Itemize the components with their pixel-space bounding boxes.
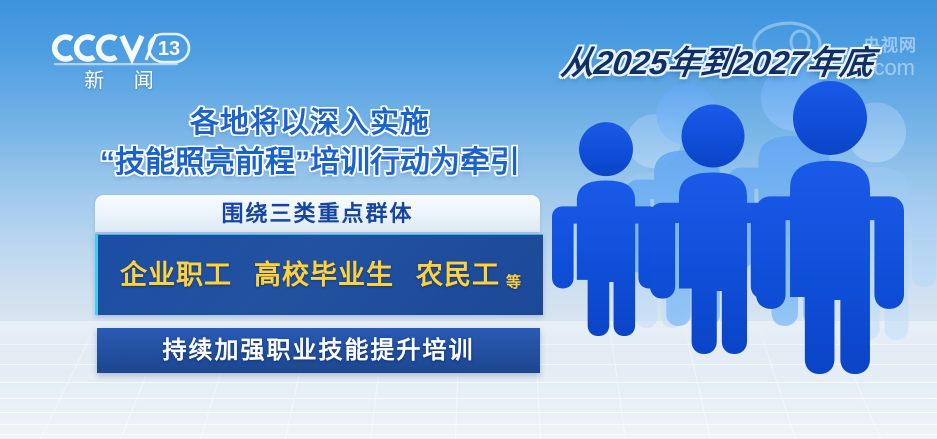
- group-item-2: 农民工: [416, 260, 500, 290]
- cctv-wordmark-icon: 13: [46, 28, 192, 68]
- crowd-of-people-icon: [548, 60, 937, 420]
- group-item-0: 企业职工: [120, 260, 232, 290]
- headline-line-1: 各地将以深入实施: [60, 103, 560, 143]
- cctv13-logo: 13 新 闻: [46, 28, 192, 94]
- broadcast-graphic-stage: 13 新 闻 央视网 com 从2025年到2027年底 各地将以深入实施 “技…: [0, 0, 937, 439]
- panel-bottom-label: 持续加强职业技能提升培训: [163, 338, 475, 364]
- headline-block: 各地将以深入实施 “技能照亮前程”培训行动为牵引: [60, 103, 560, 183]
- headline-line-2: “技能照亮前程”培训行动为牵引: [60, 143, 560, 183]
- svg-text:13: 13: [158, 38, 180, 60]
- group-suffix-label: 等: [506, 271, 521, 292]
- panel-title-bar: 围绕三类重点群体: [95, 195, 540, 232]
- panel-bottom-statement: 持续加强职业技能提升培训: [97, 328, 540, 373]
- dateline-heading: 从2025年到2027年底: [559, 36, 878, 84]
- panel-title-label: 围绕三类重点群体: [221, 202, 413, 226]
- group-item-1: 高校毕业生: [254, 260, 394, 290]
- channel-subtitle: 新 闻: [46, 68, 192, 94]
- panel-target-groups: 企业职工 高校毕业生 农民工 等: [95, 234, 543, 315]
